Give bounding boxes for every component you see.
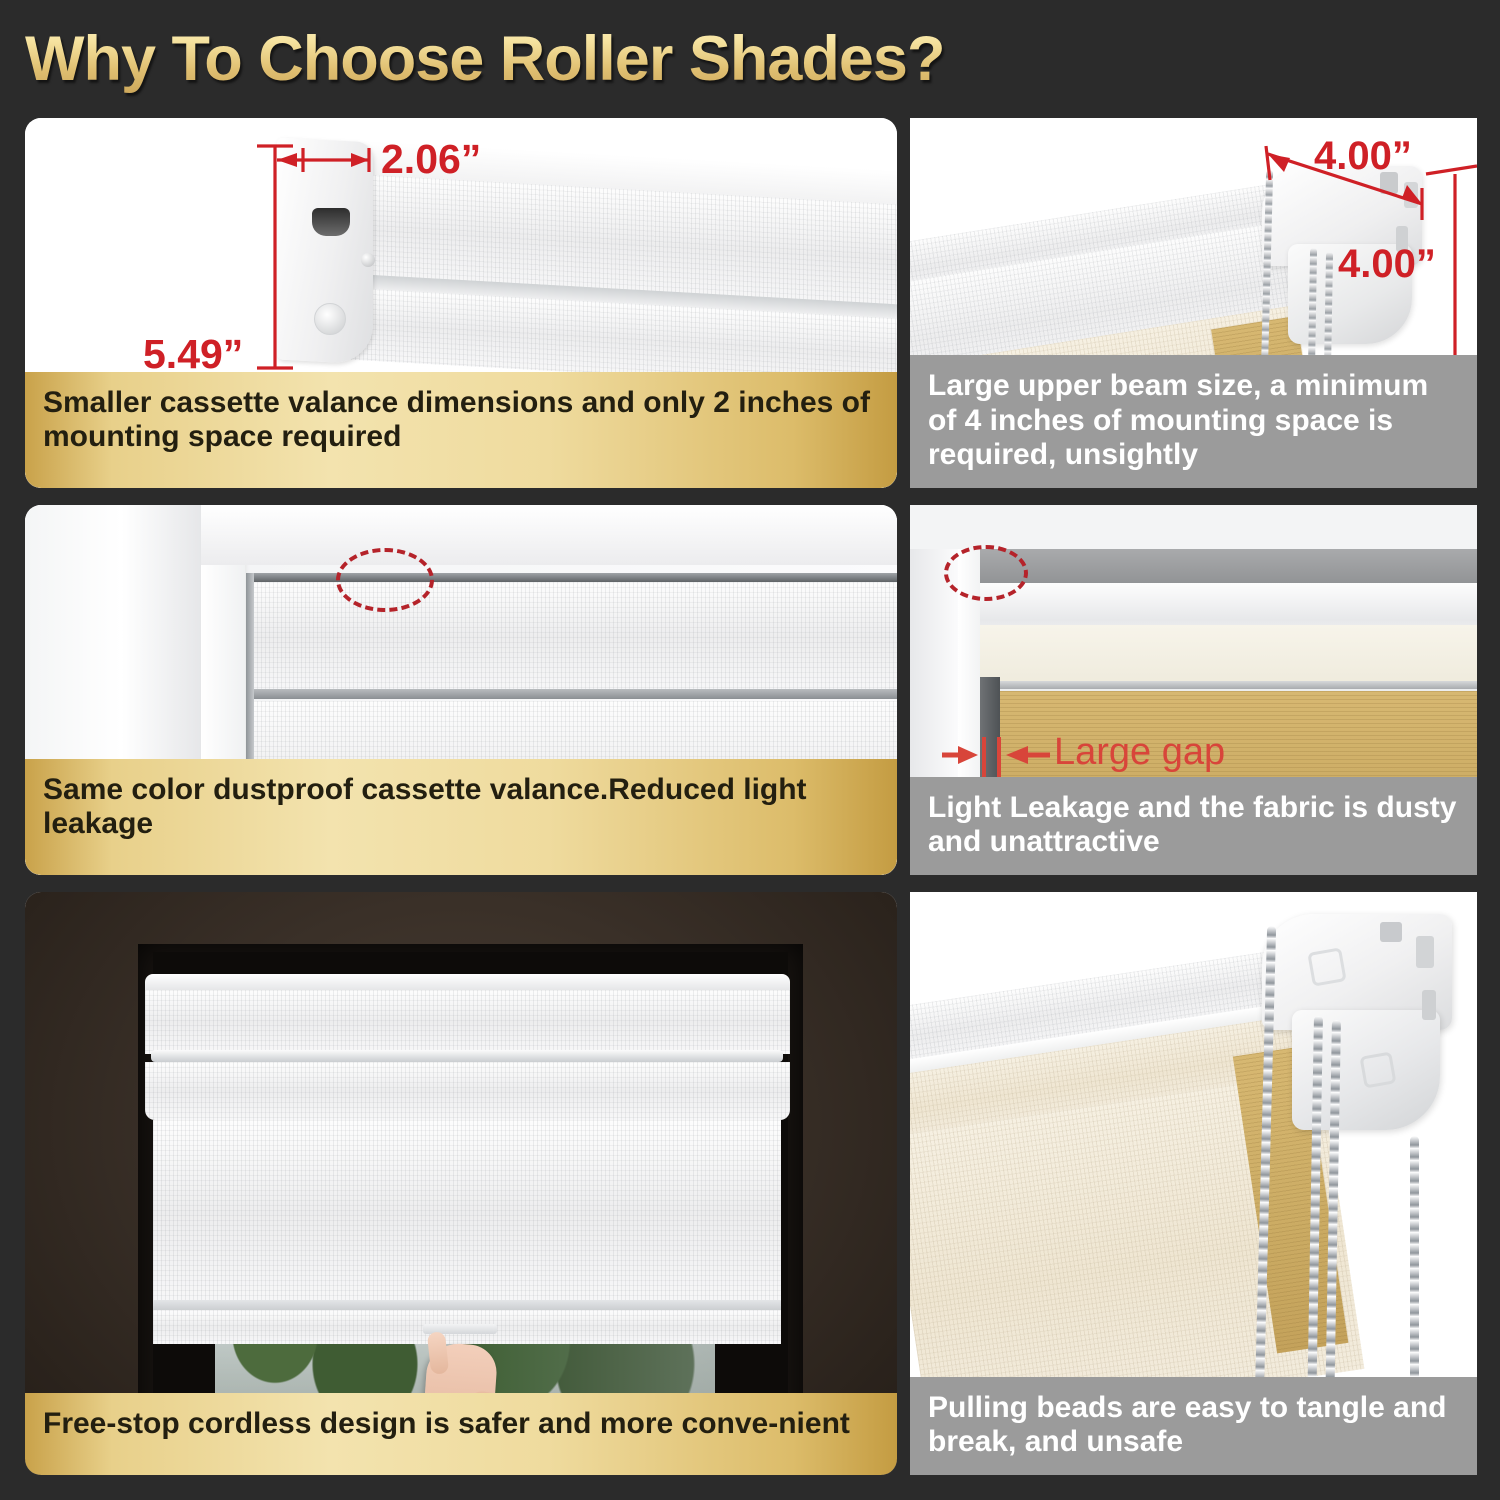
valance-strip xyxy=(966,625,1477,685)
large-gap-label: Large gap xyxy=(1054,731,1225,774)
panel-smaller-gap: smaller gap Same color dustproof cassett… xyxy=(25,505,897,875)
panel-upper-beam-dimensions: 4.00” 4.00” Large upper beam size, a min… xyxy=(910,118,1477,488)
caption-smaller-gap: Same color dustproof cassette valance.Re… xyxy=(25,759,897,875)
caption-cassette-dimensions: Smaller cassette valance dimensions and … xyxy=(25,372,897,488)
valance-lower xyxy=(145,1062,790,1120)
caption-cordless-window: Free-stop cordless design is safer and m… xyxy=(25,1393,897,1475)
window-frame-top xyxy=(201,505,897,565)
caption-upper-beam-dimensions: Large upper beam size, a minimum of 4 in… xyxy=(910,355,1477,488)
caption-large-gap: Light Leakage and the fabric is dusty an… xyxy=(910,777,1477,875)
valance-groove xyxy=(151,1050,783,1062)
wall-top xyxy=(910,505,1477,549)
panel-large-gap: Large gap Light Leakage and the fabric i… xyxy=(910,505,1477,875)
bracket-notch-right xyxy=(1416,936,1434,968)
caption-pulling-beads: Pulling beads are easy to tangle and bre… xyxy=(910,1377,1477,1475)
page-title: Why To Choose Roller Shades? xyxy=(25,18,1475,100)
panel-cassette-dimensions: 2.06” 5.49” Smaller cassette valance dim… xyxy=(25,118,897,488)
cassette-lower-edge xyxy=(253,689,897,699)
width-dimension-label: 2.06” xyxy=(381,136,481,183)
cordless-window-photo xyxy=(25,892,897,1475)
beam-width-dimension-label: 4.00” xyxy=(1314,134,1412,179)
end-cap-slot xyxy=(312,208,350,236)
bracket-arrow-icon-lower xyxy=(1359,1051,1396,1088)
valance-face xyxy=(145,990,790,1054)
beam-height-dimension-label: 4.00” xyxy=(1338,242,1436,287)
bracket-notch-right xyxy=(1404,182,1418,208)
page-header: Why To Choose Roller Shades? xyxy=(25,18,1475,100)
panel-pulling-beads: Pulling beads are easy to tangle and bre… xyxy=(910,892,1477,1475)
bracket-notch-top xyxy=(1380,922,1402,942)
end-cap-screw xyxy=(314,303,346,335)
height-dimension-label: 5.49” xyxy=(143,331,243,378)
gap-highlight-ellipse xyxy=(336,548,434,612)
bracket-slot xyxy=(1422,990,1436,1020)
bracket-arrow-icon xyxy=(1307,947,1346,986)
shade-fabric xyxy=(153,1120,781,1306)
end-cap-pin xyxy=(361,253,375,267)
panel-cordless-window: Free-stop cordless design is safer and m… xyxy=(25,892,897,1475)
comparison-grid: 2.06” 5.49” Smaller cassette valance dim… xyxy=(0,100,1500,1500)
valance-bottom-edge xyxy=(966,681,1477,689)
gap-highlight-ellipse xyxy=(944,545,1028,601)
